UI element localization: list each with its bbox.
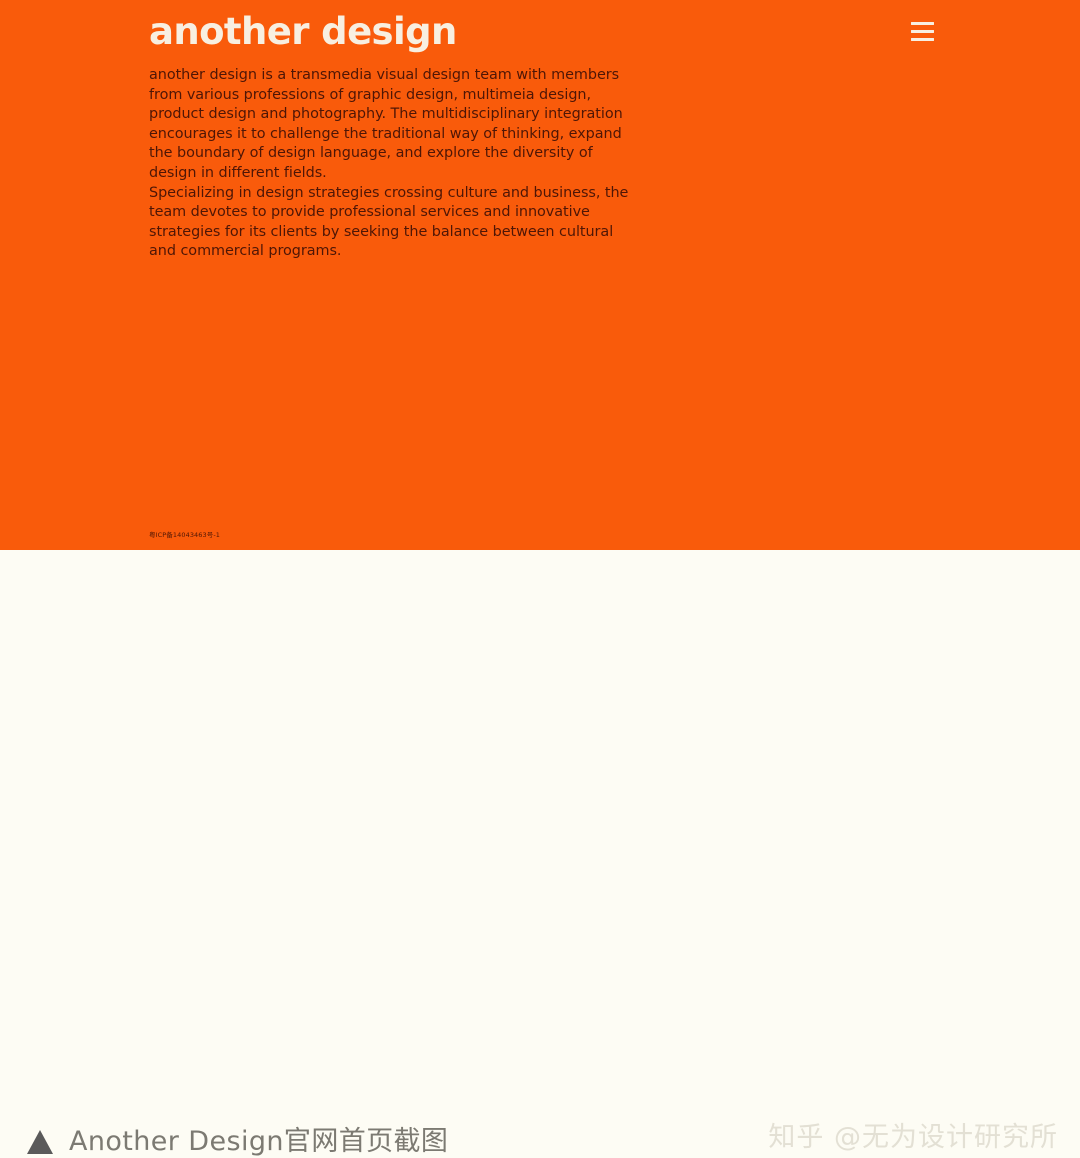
brand-logo[interactable]: another design	[149, 9, 457, 55]
intro-copy-block: another design is a transmedia visual de…	[149, 66, 644, 262]
intro-paragraph-1: another design is a transmedia visual de…	[149, 66, 644, 184]
caption-group: Another Design官网首页截图	[27, 1126, 448, 1158]
hamburger-bar-bottom	[911, 38, 934, 41]
screenshot-frame: another design another design is a trans…	[0, 0, 1080, 633]
up-triangle-icon[interactable]	[27, 1130, 53, 1154]
hamburger-bar-middle	[911, 30, 934, 33]
website-screenshot-pane: another design another design is a trans…	[0, 0, 1080, 550]
icp-license-link[interactable]: 粤ICP备14043463号-1	[149, 531, 220, 540]
hamburger-bar-top	[911, 22, 934, 25]
intro-paragraph-2: Specializing in design strategies crossi…	[149, 184, 644, 262]
caption-text: Another Design官网首页截图	[69, 1126, 448, 1158]
hamburger-menu-icon[interactable]	[909, 21, 936, 43]
site-header: another design	[0, 0, 1080, 62]
caption-bar: Another Design官网首页截图 知乎 @无为设计研究所	[0, 550, 1080, 633]
zhihu-watermark: 知乎 @无为设计研究所	[768, 1120, 1058, 1156]
